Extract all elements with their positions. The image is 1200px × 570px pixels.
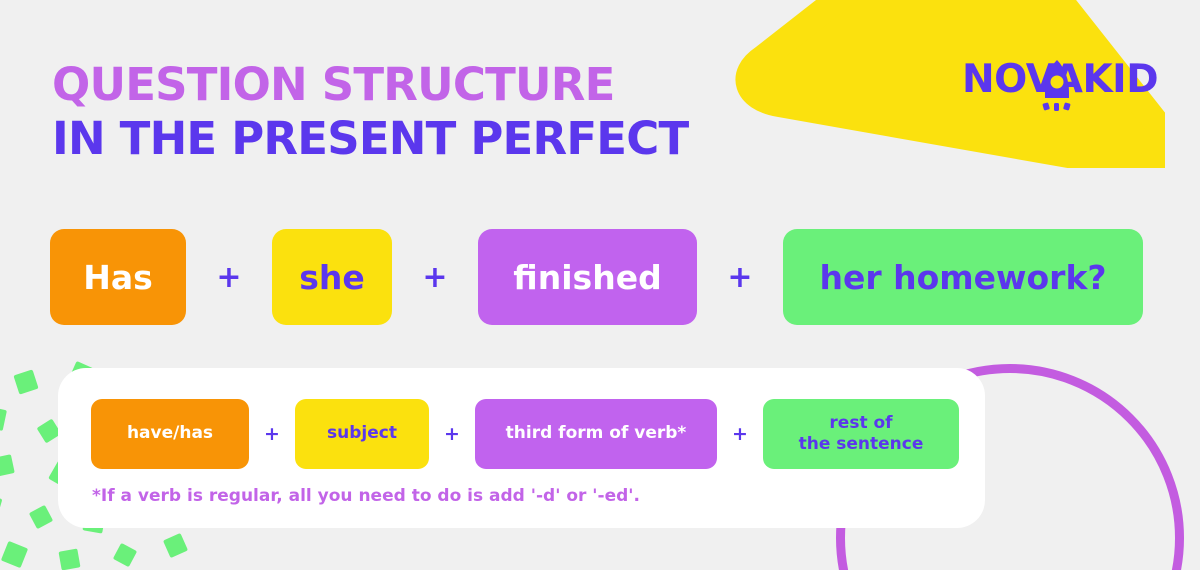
example-chip-auxiliary[interactable]: Has [50,229,186,325]
confetti-square [113,543,137,567]
example-chip-rest-label: her homework? [819,258,1106,297]
confetti-square [0,406,7,431]
example-chip-participle-label: finished [513,258,661,297]
formula-card: have/has + subject + third form of verb*… [58,368,985,528]
formula-plus-3: + [717,423,763,445]
formula-row: have/has + subject + third form of verb*… [91,399,959,469]
formula-chip-subject[interactable]: subject [295,399,429,469]
example-sentence-row: Has + she + finished + her homework? [50,229,1143,325]
plus-separator-2: + [392,260,478,295]
confetti-square [0,494,2,519]
confetti-square [1,541,28,568]
confetti-square [163,533,188,558]
formula-chip-participle[interactable]: third form of verb* [475,399,717,469]
formula-chip-auxiliary-label: have/has [127,423,213,444]
plus-separator-1: + [186,260,272,295]
formula-plus-2: + [429,423,475,445]
formula-plus-1: + [249,423,295,445]
footnote-text: *If a verb is regular, all you need to d… [92,486,640,506]
example-chip-subject-label: she [299,258,365,297]
page-title: QUESTION STRUCTURE IN THE PRESENT PERFEC… [52,62,688,161]
formula-chip-subject-label: subject [327,423,397,444]
confetti-square [0,454,15,477]
title-line-primary: QUESTION STRUCTURE [52,62,688,107]
example-chip-subject[interactable]: she [272,229,392,325]
example-chip-auxiliary-label: Has [83,258,153,297]
example-chip-rest[interactable]: her homework? [783,229,1143,325]
confetti-square [29,505,53,529]
plus-separator-3: + [697,260,783,295]
formula-chip-auxiliary[interactable]: have/has [91,399,249,469]
infographic-canvas: QUESTION STRUCTURE IN THE PRESENT PERFEC… [0,0,1200,570]
title-line-secondary: IN THE PRESENT PERFECT [52,116,688,161]
rocket-icon [1040,58,1074,112]
confetti-square [13,369,38,394]
formula-chip-rest-label: rest ofthe sentence [799,413,924,456]
formula-chip-participle-label: third form of verb* [506,423,687,444]
novakid-logo[interactable]: NOVAKID [962,56,1167,114]
formula-chip-rest[interactable]: rest ofthe sentence [763,399,959,469]
example-chip-participle[interactable]: finished [478,229,697,325]
confetti-square [58,548,80,570]
